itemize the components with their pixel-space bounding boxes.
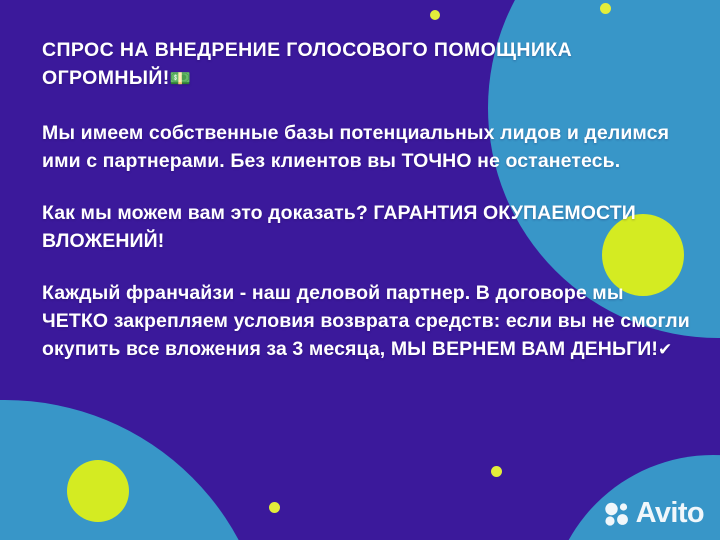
check-mark-icon: ✔ — [658, 340, 672, 360]
headline-text: СПРОС НА ВНЕДРЕНИЕ ГОЛОСОВОГО ПОМОЩНИКА … — [42, 39, 572, 89]
decorative-lime-circle-bottom-left — [67, 460, 129, 522]
decorative-dot — [269, 502, 280, 513]
decorative-blue-circle-bottom-left — [0, 400, 270, 540]
body-paragraph-1: Мы имеем собственные базы потенциальных … — [42, 119, 692, 175]
money-banknote-icon: 💵 — [170, 69, 192, 89]
avito-watermark: Avito — [603, 499, 704, 528]
body-paragraph-3-text: Каждый франчайзи - наш деловой партнер. … — [42, 282, 690, 360]
body-paragraph-2: Как мы можем вам это доказать? ГАРАНТИЯ … — [42, 199, 692, 255]
poster-canvas: СПРОС НА ВНЕДРЕНИЕ ГОЛОСОВОГО ПОМОЩНИКА … — [0, 0, 720, 540]
avito-logo-dots-icon — [603, 501, 631, 527]
poster-copy-block: СПРОС НА ВНЕДРЕНИЕ ГОЛОСОВОГО ПОМОЩНИКА … — [42, 36, 692, 364]
avito-wordmark: Avito — [636, 499, 704, 528]
body-paragraph-3: Каждый франчайзи - наш деловой партнер. … — [42, 279, 692, 364]
headline: СПРОС НА ВНЕДРЕНИЕ ГОЛОСОВОГО ПОМОЩНИКА … — [42, 36, 692, 93]
decorative-dot — [491, 466, 502, 477]
decorative-dot — [600, 3, 611, 14]
decorative-dot — [430, 10, 440, 20]
